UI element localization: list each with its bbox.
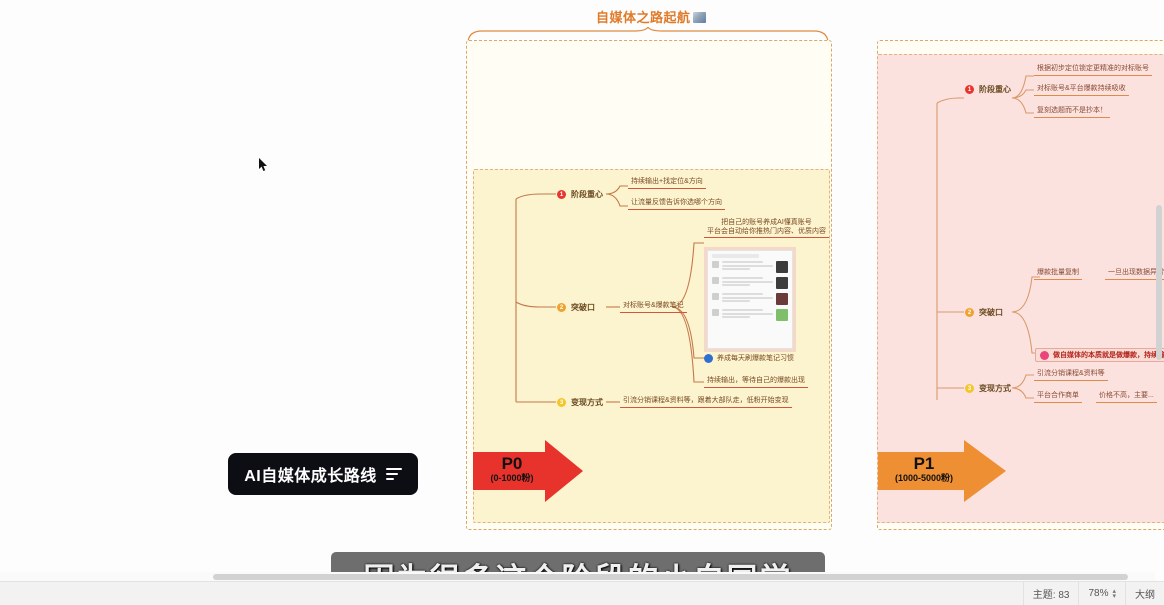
leaf-p0-account-training[interactable]: 把自己的账号养成AI懂真账号 平台会自动给你推热门内容、优质内容 <box>704 218 829 238</box>
leaf-p1-breakthrough-1[interactable]: 爆款批量复制 <box>1034 268 1082 280</box>
thumb-row <box>712 309 788 321</box>
badge-number-icon: 3 <box>557 398 566 407</box>
thumb-row <box>712 277 788 289</box>
leaf-p0-keep-output[interactable]: 持续输出，等待自己的爆款出现 <box>704 376 808 388</box>
brand-badge-label: AI自媒体成长路线 <box>244 462 377 486</box>
thumb-text <box>722 277 773 289</box>
theme-label: 主题: 83 <box>1033 586 1070 601</box>
thumb-header-bar <box>712 254 759 258</box>
badge-number-icon: 1 <box>557 190 566 199</box>
badge-number-icon: 1 <box>965 85 974 94</box>
bullet-dot-icon <box>704 354 713 363</box>
star-bullet-icon <box>1040 351 1049 360</box>
node-p0-breakthrough[interactable]: 2 突破口 <box>557 302 595 313</box>
badge-number-icon: 2 <box>557 303 566 312</box>
phase-arrow-p0[interactable] <box>473 440 583 502</box>
leaf-p1-monetization-1[interactable]: 引流分销课程&资料等 <box>1034 369 1108 381</box>
node-p1-phase-focus[interactable]: 1 阶段重心 <box>965 84 1011 95</box>
thumb-avatar <box>712 293 719 300</box>
thumb-row <box>712 261 788 273</box>
horizontal-scrollbar-thumb[interactable] <box>213 574 1128 580</box>
outline-toggle[interactable]: 大纲 <box>1125 582 1164 605</box>
node-p1-monetization[interactable]: 3 变现方式 <box>965 383 1011 394</box>
thumb-image <box>776 261 788 273</box>
zoom-label: 78% <box>1088 588 1108 599</box>
thumb-avatar <box>712 277 719 284</box>
hamburger-menu-icon[interactable] <box>386 468 402 480</box>
brand-badge[interactable]: AI自媒体成长路线 <box>228 453 418 495</box>
page-title: 自媒体之路起航 <box>596 7 706 26</box>
theme-indicator[interactable]: 主题: 83 <box>1023 582 1079 605</box>
mindmap-canvas[interactable]: 自媒体之路起航 1 阶段重心 持续输出+找定位&方向 让流量反馈告诉你选哪个方向 <box>0 0 1164 604</box>
thumb-image <box>776 277 788 289</box>
embedded-feed-screenshot[interactable] <box>704 247 796 352</box>
leaf-p1-focus-3[interactable]: 复刻选题而不是抄本！ <box>1034 106 1110 118</box>
leaf-p1-focus-1[interactable]: 根据初步定位锁定更精准的对标账号 <box>1034 64 1152 76</box>
leaf-p1-monetization-3[interactable]: 价格不高，主要... <box>1096 391 1157 403</box>
thumb-avatar <box>712 309 719 316</box>
phase-arrow-p1[interactable] <box>878 440 1006 502</box>
embedded-feed-inner <box>707 250 793 349</box>
leaf-p0-daily-habit[interactable]: 养成每天刷爆款笔记习惯 <box>704 353 794 363</box>
leaf-p0-breakthrough-1[interactable]: 对标账号&爆款笔记 <box>620 301 687 313</box>
badge-number-icon: 3 <box>965 384 974 393</box>
badge-number-icon: 2 <box>965 308 974 317</box>
photo-emoji-icon <box>693 12 706 23</box>
leaf-p1-focus-2[interactable]: 对标账号&平台爆款持续吸收 <box>1034 84 1129 96</box>
outline-label: 大纲 <box>1135 586 1155 601</box>
thumb-row <box>712 293 788 305</box>
thumb-text <box>722 261 773 273</box>
thumb-text <box>722 293 773 305</box>
stepper-chevrons-icon[interactable]: ▴▾ <box>1112 589 1116 599</box>
highlight-p1-essence[interactable]: 做自媒体的本质就是做爆款，持续输... <box>1035 348 1164 362</box>
thumb-text <box>722 309 773 321</box>
thumb-avatar <box>712 261 719 268</box>
node-p0-monetization[interactable]: 3 变现方式 <box>557 397 603 408</box>
node-p1-breakthrough[interactable]: 2 突破口 <box>965 307 1003 318</box>
leaf-p1-monetization-2[interactable]: 平台合作商单 <box>1034 391 1082 403</box>
status-bar: 主题: 83 78% ▴▾ 大纲 <box>0 581 1164 605</box>
leaf-p0-monetization-1[interactable]: 引流分销课程&资料等，跟着大部队走，低粉开始变现 <box>620 396 792 408</box>
mouse-cursor-icon <box>259 158 268 172</box>
vertical-scrollbar-thumb[interactable] <box>1156 205 1162 360</box>
leaf-p0-focus-1[interactable]: 持续输出+找定位&方向 <box>628 177 706 189</box>
zoom-control[interactable]: 78% ▴▾ <box>1078 582 1125 605</box>
thumb-image <box>776 309 788 321</box>
leaf-p0-focus-2[interactable]: 让流量反馈告诉你选哪个方向 <box>628 198 725 210</box>
page-title-text: 自媒体之路起航 <box>596 10 691 25</box>
node-p0-phase-focus[interactable]: 1 阶段重心 <box>557 189 603 200</box>
thumb-image <box>776 293 788 305</box>
